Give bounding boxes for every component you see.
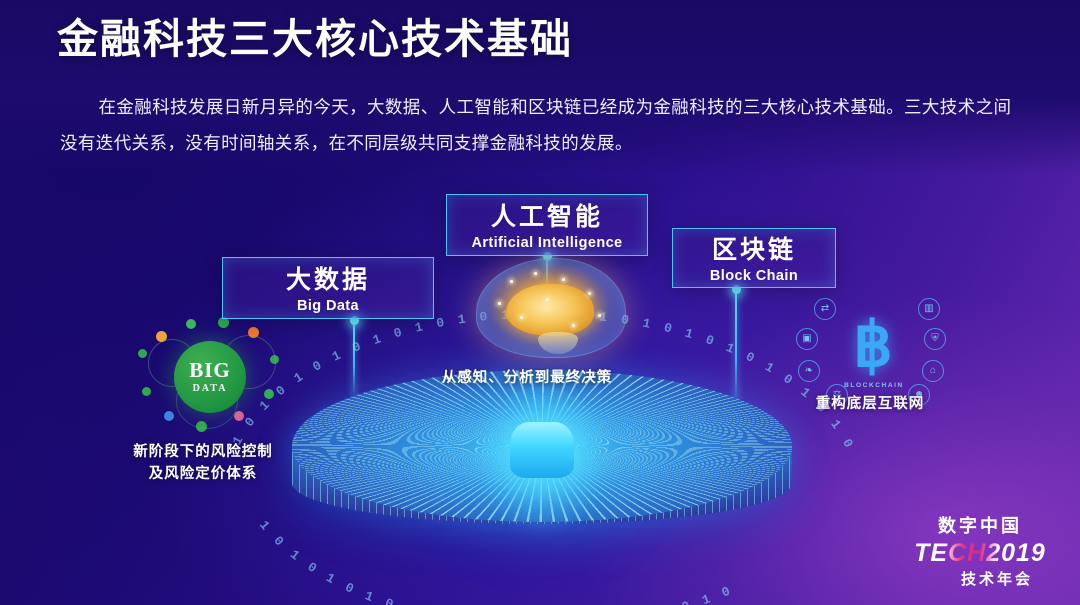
logo-line-2: TECH2019 — [904, 540, 1056, 568]
pillar-box-big-data[interactable]: 大数据 Big Data — [222, 257, 434, 319]
node-dot-green-2 — [186, 319, 196, 329]
leaf-icon: ❧ — [798, 360, 820, 382]
factory-icon: ⌂ — [922, 360, 944, 382]
logo-line-3: 技术年会 — [904, 568, 1056, 589]
exchange-icon: ⇄ — [814, 298, 836, 320]
node-dot-green-5 — [264, 389, 274, 399]
bank-icon: ▣ — [796, 328, 818, 350]
big-data-badge: BIG DATA — [174, 341, 246, 413]
neuron-spark — [498, 302, 501, 305]
bitcoin-b-icon: ฿ — [844, 310, 902, 384]
node-dot-green-7 — [142, 387, 151, 396]
blockchain-wordmark: BLOCKCHAIN — [830, 382, 918, 389]
pillar-box-ai[interactable]: 人工智能 Artificial Intelligence — [446, 194, 648, 256]
neuron-spark — [572, 324, 575, 327]
platform-disc — [292, 370, 792, 560]
neuron-spark — [520, 316, 523, 319]
disc-core-emitter — [510, 422, 574, 478]
chart-icon: ▥ — [918, 298, 940, 320]
brain-inner-fold — [506, 284, 594, 336]
pillar-label-cn: 区块链 — [673, 237, 835, 265]
big-data-badge-line1: BIG — [189, 360, 231, 381]
pillar-label-cn: 大数据 — [223, 267, 433, 295]
pillar-label-cn: 人工智能 — [447, 204, 647, 232]
node-dot-blue-1 — [164, 411, 174, 421]
logo-line-1: 数字中国 — [904, 515, 1056, 538]
big-data-icon-cluster: BIG DATA — [130, 315, 290, 437]
big-data-badge-line2: DATA — [193, 383, 228, 394]
event-logo: 数字中国 TECH2019 技术年会 — [904, 515, 1056, 589]
neuron-spark — [534, 272, 537, 275]
neuron-spark — [598, 314, 601, 317]
pillar-label-en: Big Data — [223, 298, 433, 314]
neuron-spark — [562, 278, 565, 281]
caption-big-data: 新阶段下的风险控制 及风险定价体系 — [88, 442, 318, 486]
pillar-label-en: Block Chain — [673, 268, 835, 284]
brain-graphic — [476, 258, 626, 358]
caption-ai: 从感知、分析到最终决策 — [402, 368, 652, 390]
caption-blockchain: 重构底层互联网 — [760, 394, 980, 416]
neuron-spark — [588, 292, 591, 295]
neuron-spark — [510, 280, 513, 283]
page-title: 金融科技三大核心技术基础 — [57, 15, 573, 64]
neuron-spark — [546, 298, 549, 301]
slide-canvas: 金融科技三大核心技术基础 在金融科技发展日新月异的今天，大数据、人工智能和区块链… — [0, 0, 1080, 605]
pillar-label-en: Artificial Intelligence — [447, 235, 647, 251]
intro-paragraph: 在金融科技发展日新月异的今天，大数据、人工智能和区块链已经成为金融科技的三大核心… — [60, 90, 1020, 162]
shield-icon: ⛨ — [924, 328, 946, 350]
node-dot-green-1 — [138, 349, 147, 358]
blockchain-icon-cluster: ⇄ ▥ ▣ ⛨ ❧ ⌂ ⚖ ☻ ฿ BLOCKCHAIN — [796, 298, 952, 406]
pillar-box-blockchain[interactable]: 区块链 Block Chain — [672, 228, 836, 288]
node-dot-pink-1 — [234, 411, 244, 421]
